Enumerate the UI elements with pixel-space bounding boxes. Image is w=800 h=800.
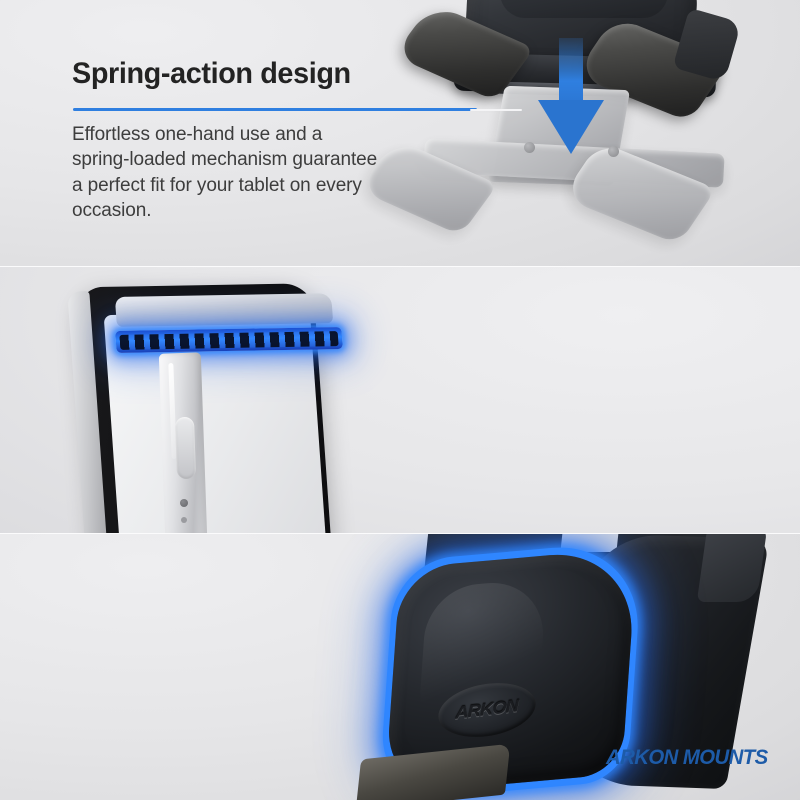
grip-foot-shape bbox=[356, 744, 511, 800]
feature-text-block: Spring-action design bbox=[72, 58, 392, 90]
ghost-clamp-screw-shape bbox=[608, 146, 619, 157]
panel-divider bbox=[0, 533, 800, 534]
panel-divider bbox=[0, 266, 800, 267]
arkon-mounts-logo: ARKON MOUNTS bbox=[606, 746, 768, 770]
feature-panel-spring-action: Spring-action design Effortless one-hand… bbox=[0, 0, 800, 266]
clamp-body-top-shape bbox=[500, 0, 668, 18]
feature-panel-padded-stability: ARKON Padded for stability Padded grip s… bbox=[0, 534, 800, 800]
feature-panel-grip-grooves: Grip-enhance grooves Designed to accommo… bbox=[0, 267, 800, 533]
holder-top-rail-shape bbox=[115, 293, 333, 327]
feature-body: Effortless one-hand use and a spring-loa… bbox=[72, 122, 384, 223]
down-arrow-icon bbox=[538, 38, 604, 154]
accent-rule-white bbox=[470, 109, 522, 111]
feature-heading: Spring-action design bbox=[72, 58, 379, 90]
tablet-side-button-shape bbox=[175, 417, 196, 480]
artwork-tablet-grooved-grip bbox=[20, 267, 400, 533]
tablet-port-dot-small bbox=[181, 517, 187, 523]
product-feature-infographic: Spring-action design Effortless one-hand… bbox=[0, 0, 800, 800]
arrow-head bbox=[538, 100, 604, 154]
artwork-tablet-clamp bbox=[380, 0, 800, 266]
ghost-clamp-screw-shape bbox=[524, 142, 535, 153]
arkon-badge-text: ARKON bbox=[455, 696, 518, 724]
accent-rule-blue bbox=[73, 108, 477, 111]
tablet-port-dot bbox=[180, 499, 188, 507]
feature-body-wrap: Effortless one-hand use and a spring-loa… bbox=[72, 122, 384, 223]
